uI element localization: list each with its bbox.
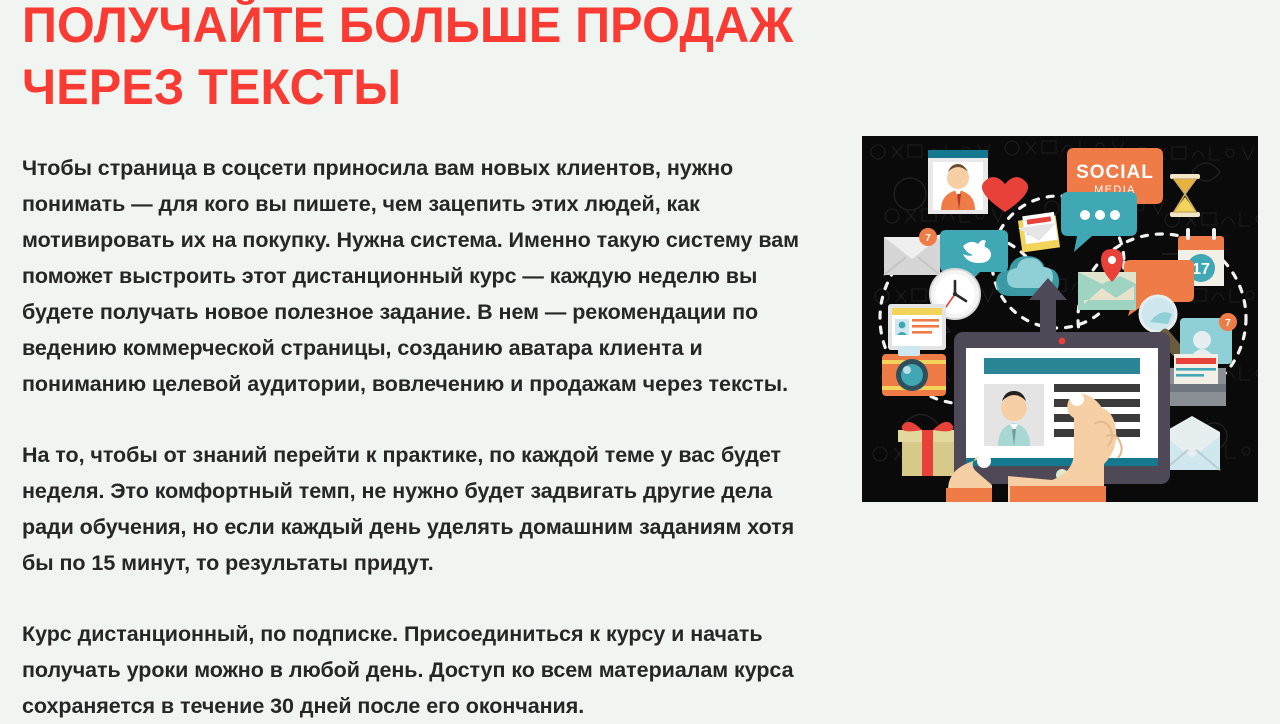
social-label: SOCIAL <box>1076 162 1154 183</box>
profile-badge-count: 7 <box>1225 318 1231 329</box>
tablet-camera-dot <box>1059 338 1066 345</box>
archive-box-icon <box>1168 354 1226 406</box>
mail-open-icon <box>1018 212 1060 253</box>
body-copy: Чтобы страница в соцсети приносила вам н… <box>22 150 824 724</box>
browser-window-icon <box>888 304 946 350</box>
calendar-day: 17 <box>1192 261 1210 278</box>
illustration-canvas: 7 SOCIA <box>862 136 1258 502</box>
paragraph-2: На то, чтобы от знаний перейти к практик… <box>22 437 824 581</box>
course-illustration: 7 SOCIA <box>862 136 1258 502</box>
paragraph-3: Курс дистанционный, по подписке. Присоед… <box>22 616 824 724</box>
paragraph-1: Чтобы страница в соцсети приносила вам н… <box>22 150 824 402</box>
page-title: ПОЛУЧАЙТЕ БОЛЬШЕ ПРОДАЖ ЧЕРЕЗ ТЕКСТЫ <box>22 0 798 118</box>
envelope-badge-count: 7 <box>925 233 931 244</box>
landing-page: ПОЛУЧАЙТЕ БОЛЬШЕ ПРОДАЖ ЧЕРЕЗ ТЕКСТЫ Что… <box>0 0 1280 663</box>
id-card-icon <box>928 150 988 214</box>
